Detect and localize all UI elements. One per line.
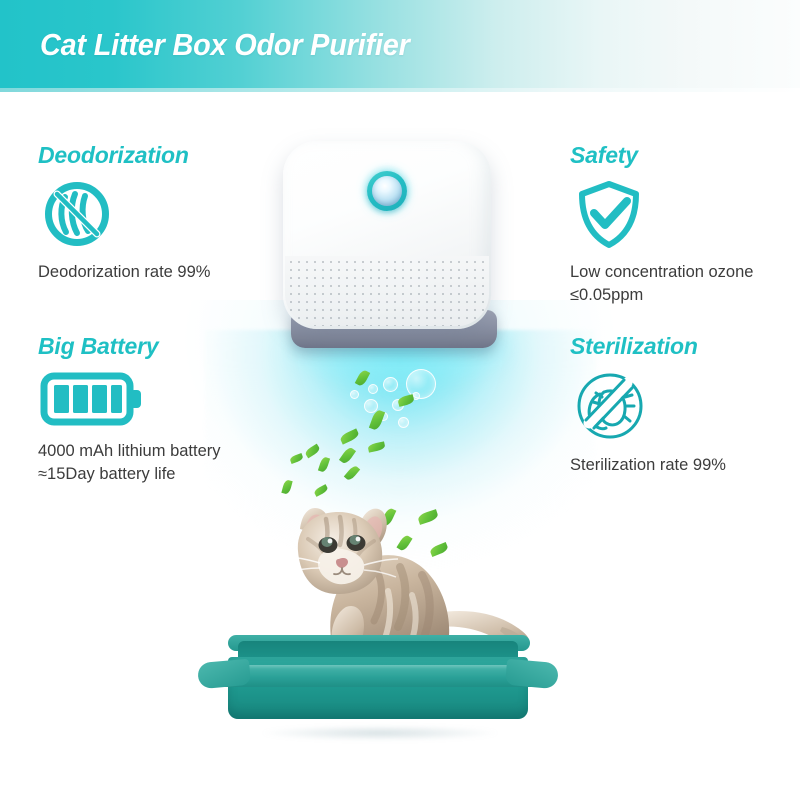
litter-box <box>198 635 558 740</box>
pet-scene <box>180 495 640 755</box>
bubble <box>350 390 359 399</box>
feature-deodorization: Deodorization Deodorization rate 99% <box>38 142 288 284</box>
device-button-ring <box>367 171 407 211</box>
header-divider <box>0 88 800 92</box>
device-body <box>283 141 491 329</box>
battery-full-icon <box>40 368 148 430</box>
odor-waves-circle-icon <box>40 177 114 251</box>
feature-battery: Big Battery 4000 mAh lithium battery ≈15… <box>38 333 288 486</box>
no-bacteria-icon <box>572 368 648 444</box>
device-power-button[interactable] <box>361 165 413 217</box>
litter-box-front-rim <box>200 665 556 687</box>
litter-box-shadow <box>220 723 540 743</box>
litter-box-handle-left <box>197 659 251 689</box>
feature-sterilization-text: Sterilization rate 99% <box>570 454 800 477</box>
feature-deodorization-title: Deodorization <box>38 142 288 169</box>
feature-safety-title: Safety <box>570 142 800 169</box>
infographic-page: Cat Litter Box Odor Purifier <box>0 0 800 800</box>
feature-battery-text: 4000 mAh lithium battery ≈15Day battery … <box>38 440 288 486</box>
shield-check-icon <box>572 177 646 251</box>
device-button-dome <box>372 176 402 206</box>
bubble <box>368 384 378 394</box>
feature-safety-text: Low concentration ozone ≤0.05ppm <box>570 261 800 307</box>
device-grille <box>285 256 489 326</box>
feature-deodorization-text: Deodorization rate 99% <box>38 261 288 284</box>
feature-battery-title: Big Battery <box>38 333 288 360</box>
feature-safety: Safety Low concentration ozone ≤0.05ppm <box>570 142 800 307</box>
feature-sterilization-title: Sterilization <box>570 333 800 360</box>
header-banner: Cat Litter Box Odor Purifier <box>0 0 800 88</box>
bubble <box>383 377 398 392</box>
product-device <box>283 141 507 361</box>
bubble <box>398 417 409 428</box>
device-grille-shade <box>285 256 489 326</box>
feature-sterilization: Sterilization Sterilization rate 99% <box>570 333 800 477</box>
litter-box-handle-right <box>505 659 559 689</box>
page-title: Cat Litter Box Odor Purifier <box>40 27 410 63</box>
